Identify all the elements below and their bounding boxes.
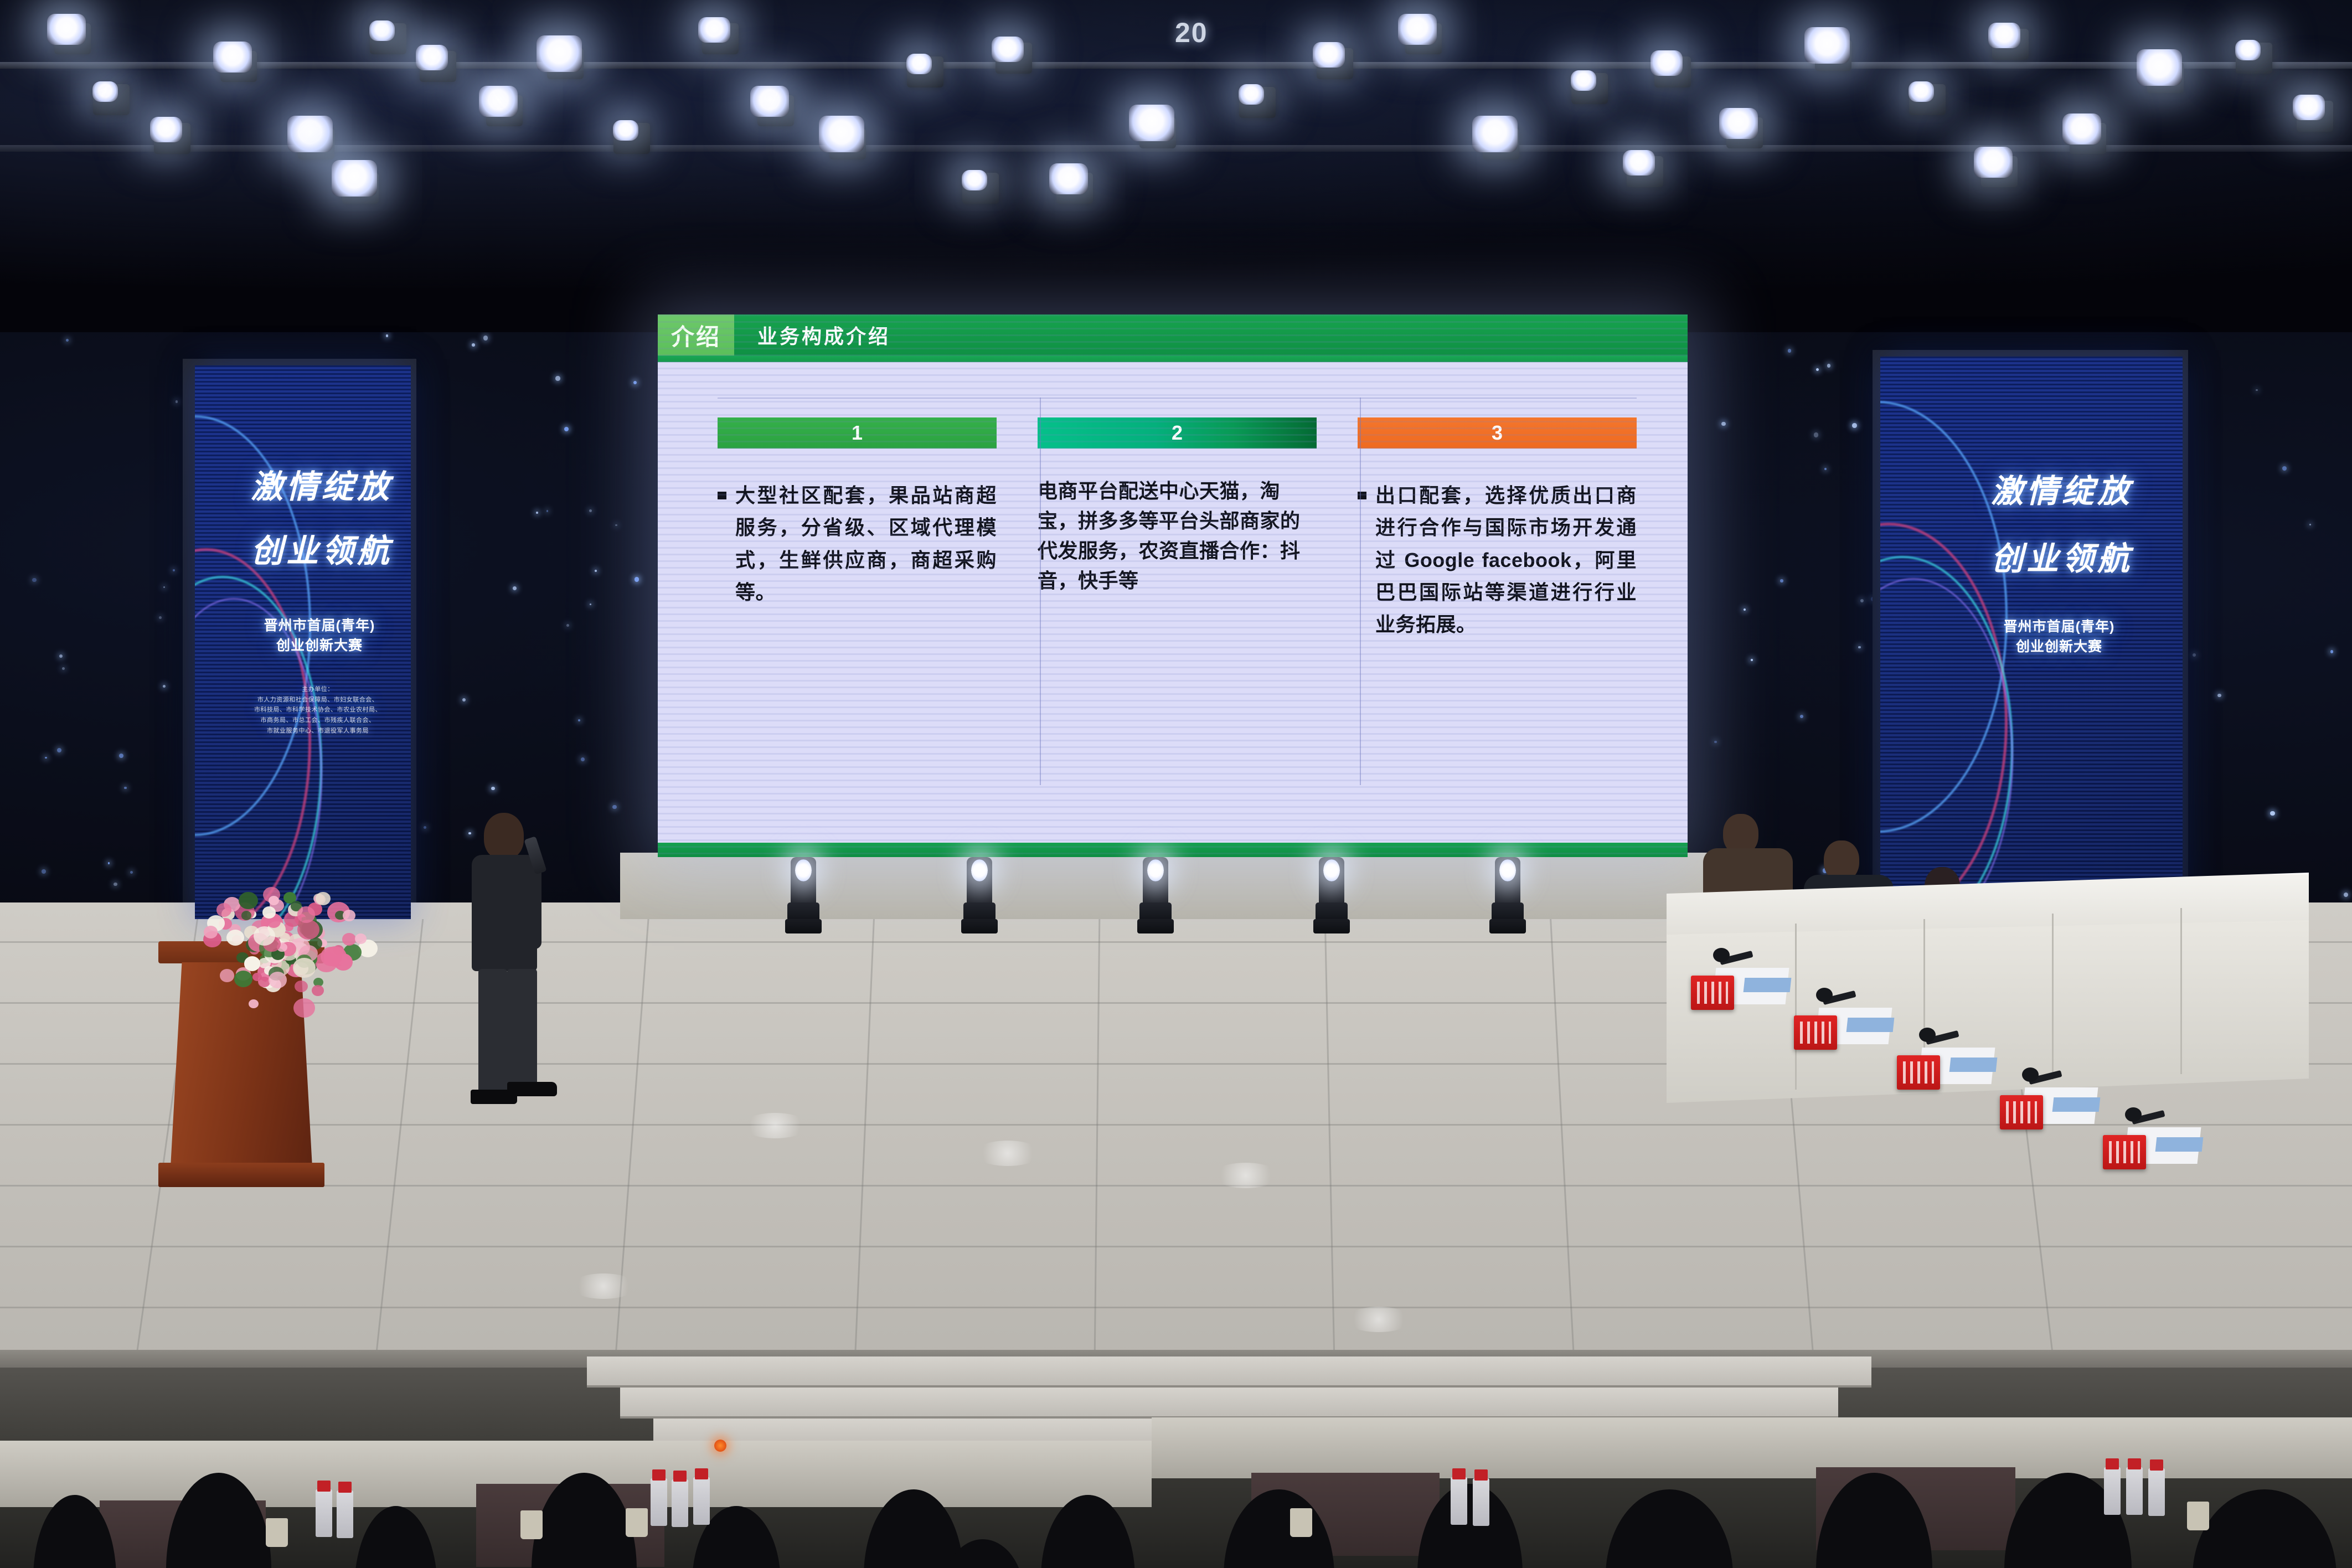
banner-left-fineprint: 主办单位： 市人力资源和社会保障局、市妇女联合会、 市科技局、市科学技术协会、市… [195, 684, 411, 736]
flower-blossom [254, 926, 275, 946]
star-point [513, 586, 517, 590]
bottle-cap [2106, 1458, 2119, 1469]
slide-hline-1 [718, 398, 1637, 399]
stage-light-beam [47, 14, 86, 45]
bottle-cap [673, 1471, 687, 1482]
desk-microphone-capsule [2022, 1067, 2039, 1082]
star-point [578, 719, 580, 721]
flower-blossom [269, 896, 279, 905]
banner-left-subtitle: 晋州市首届(青年) 创业创新大赛 [195, 616, 411, 656]
slide-column-1[interactable]: 1 大型社区配套，果品站商超服务，分省级、区域代理模式，生鲜供应商，商超采购等。 [718, 417, 997, 641]
star-point [59, 654, 63, 658]
flower-blossom [241, 911, 251, 920]
star-point [615, 524, 617, 527]
judge-nameplate [2103, 1135, 2146, 1169]
star-point [2217, 694, 2221, 698]
column-1-number: 1 [718, 417, 997, 448]
podium-base [158, 1163, 324, 1187]
moving-head-light [1489, 857, 1526, 935]
star-point [536, 512, 538, 514]
moving-head-base [961, 919, 998, 933]
judge-blue-folder [2052, 1097, 2101, 1112]
presenter [454, 813, 576, 1123]
star-point [62, 667, 65, 670]
star-point [472, 343, 474, 346]
moving-head-lens [1499, 859, 1516, 881]
slide-header-title: 业务构成介绍 [734, 314, 1688, 355]
star-point [612, 805, 616, 809]
flower-blossom [293, 958, 315, 978]
moving-head-light [961, 857, 998, 935]
bottle-cap [1452, 1468, 1466, 1479]
moving-head-light [1313, 857, 1350, 935]
star-point [386, 334, 389, 337]
stage-light-beam [537, 35, 582, 72]
floor-seam [0, 1246, 2352, 1247]
star-point [424, 826, 427, 829]
column-2-text: 电商平台配送中心天猫，淘宝，拼多多等平台头部商家的代发服务，农资直播合作：抖音，… [1038, 476, 1317, 596]
floor-light-reflection [974, 1141, 1041, 1166]
presenter-arm [522, 866, 541, 949]
star-point [1824, 468, 1827, 470]
star-point [130, 871, 133, 874]
banner-right-subtitle: 晋州市首届(青年) 创业创新大赛 [1880, 617, 2183, 657]
stage-light-beam [2062, 114, 2101, 145]
stage-light-beam [1571, 70, 1596, 91]
star-point [1852, 423, 1857, 428]
stage-light-beam [819, 116, 864, 152]
moving-head-lens [971, 859, 988, 881]
star-point [108, 862, 110, 864]
star-point [462, 698, 466, 702]
star-point [590, 604, 591, 605]
banner-right-line1: 激情绽放 [1880, 465, 2183, 512]
flower-blossom [355, 933, 366, 943]
stage-light-beam [479, 86, 518, 117]
star-point [2256, 389, 2258, 391]
star-point [1751, 659, 1753, 661]
judges-table-panel-seam-1 [1795, 924, 1797, 1090]
stage-light-beam [1623, 150, 1655, 176]
column-1-text: 大型社区配套，果品站商超服务，分省级、区域代理模式，生鲜供应商，商超采购等。 [735, 479, 997, 608]
moving-head-yoke [787, 902, 819, 921]
judge-blue-folder [1846, 1018, 1895, 1032]
stage-light-beam [698, 17, 730, 43]
star-point [32, 578, 37, 582]
flower-blossom [312, 985, 324, 996]
stage-light-beam [1909, 81, 1934, 102]
star-point [633, 381, 637, 384]
star-point [1744, 608, 1746, 611]
moving-head-lens [1323, 859, 1340, 881]
flower-blossom [295, 981, 307, 992]
star-point [1814, 432, 1818, 437]
column-3-number: 3 [1358, 417, 1637, 448]
flower-blossom [234, 971, 253, 987]
moving-head-base [785, 919, 822, 933]
star-point [1780, 579, 1783, 582]
star-point [564, 427, 569, 431]
floor-light-reflection [1213, 1163, 1279, 1188]
slide-header-tag: 介绍 [658, 314, 734, 355]
moving-head-lens [795, 859, 812, 881]
flower-blossom [297, 906, 316, 922]
floor-light-reflection [742, 1113, 808, 1138]
judge-blue-folder [1949, 1058, 1998, 1072]
stage-light-beam [416, 45, 448, 70]
star-point [581, 757, 585, 761]
flower-blossom [293, 998, 315, 1018]
star-point [483, 336, 488, 341]
judges-table-panel-seam-4 [2180, 908, 2182, 1074]
column-1-body: 大型社区配套，果品站商超服务，分省级、区域代理模式，生鲜供应商，商超采购等。 [718, 479, 997, 608]
stage-step-2 [620, 1388, 1838, 1419]
desk-microphone-capsule [1816, 988, 1833, 1002]
flower-blossom [220, 969, 234, 982]
bottle-cap [2150, 1459, 2163, 1471]
stage-step-1 [587, 1356, 1871, 1388]
star-point [2309, 524, 2311, 525]
floor-seam [0, 1185, 2352, 1187]
flower-blossom [343, 910, 356, 921]
bottle-cap [338, 1482, 352, 1493]
star-point [1714, 741, 1717, 744]
flower-blossom [269, 972, 287, 988]
stage-light-beam [2137, 49, 2182, 86]
bottle-cap [652, 1469, 666, 1481]
paper-cup [520, 1510, 543, 1539]
flower-blossom [321, 947, 342, 966]
star-point [1827, 364, 1830, 367]
star-point [595, 570, 597, 572]
slide-divider-1 [1040, 398, 1041, 785]
moving-head-base [1489, 919, 1526, 933]
slide-header-rule [658, 355, 1688, 362]
column-2-number: 2 [1038, 417, 1317, 448]
judge-nameplate [1794, 1015, 1837, 1050]
banner-left-line1: 激情绽放 [195, 461, 411, 507]
stage-light-beam [962, 170, 987, 190]
stage-light-beam [92, 81, 118, 102]
star-point [635, 577, 639, 581]
banner-left-line2: 创业领航 [195, 525, 411, 571]
star-point [555, 376, 560, 380]
star-point [57, 748, 62, 753]
exit-light-icon [714, 1440, 726, 1452]
stage-light-beam [613, 120, 638, 141]
desk-microphone-capsule [1919, 1028, 1936, 1042]
water-bottle [2104, 1467, 2121, 1515]
flower-blossom [249, 999, 259, 1008]
star-point [173, 569, 175, 571]
moving-head-lens [1147, 859, 1164, 881]
judge-blue-folder [1744, 978, 1792, 992]
slide-columns: 1 大型社区配套，果品站商超服务，分省级、区域代理模式，生鲜供应商，商超采购等。… [718, 417, 1637, 641]
star-point [45, 757, 47, 759]
star-point [2344, 893, 2348, 897]
moving-head-yoke [1139, 902, 1172, 921]
stage-light-beam [1988, 23, 2020, 48]
bullet-square-icon [718, 492, 726, 499]
bullet-square-icon [1358, 492, 1366, 499]
water-bottle [2126, 1467, 2143, 1515]
water-bottle [1451, 1477, 1467, 1525]
banner-right-line2: 创业领航 [1880, 533, 2183, 579]
moving-head-yoke [963, 902, 996, 921]
floor-light-reflection [1345, 1307, 1412, 1332]
star-point [546, 510, 548, 512]
column-3-body: 出口配套，选择优质出口商进行合作与国际市场开发通过 Google faceboo… [1358, 479, 1637, 641]
water-bottle [337, 1490, 353, 1538]
paper-cup [2187, 1502, 2209, 1530]
stage-light-beam [332, 160, 377, 197]
star-point [66, 339, 69, 342]
bottle-cap [317, 1481, 331, 1492]
moving-head-base [1313, 919, 1350, 933]
stage-light-beam [1398, 14, 1437, 45]
moving-head-yoke [1316, 902, 1348, 921]
stage-light-beam [369, 20, 395, 41]
star-point [589, 509, 592, 513]
star-point [163, 685, 166, 688]
star-point [1858, 646, 1860, 648]
star-point [2330, 650, 2334, 653]
flower-blossom [316, 892, 331, 905]
stage-light-beam [1974, 147, 2013, 178]
star-point [1721, 422, 1726, 426]
slide-column-2[interactable]: 2 电商平台配送中心天猫，淘宝，拼多多等平台头部商家的代发服务，农资直播合作：抖… [1038, 417, 1317, 641]
star-point [2282, 466, 2287, 471]
water-bottle [316, 1489, 332, 1537]
presenter-leg-left [478, 969, 507, 1094]
star-point [1860, 599, 1864, 603]
flower-blossom [216, 903, 231, 917]
stage-light-beam [287, 116, 333, 152]
star-point [119, 754, 123, 758]
star-point [2270, 811, 2275, 816]
stage-light-beam [1650, 50, 1683, 76]
paper-cup [626, 1508, 648, 1537]
judges-table-panel-seam-3 [2052, 914, 2054, 1080]
flower-arrangement [183, 870, 371, 1036]
stage-light-beam [213, 42, 252, 73]
stage-light-beam [992, 37, 1024, 62]
flower-blossom [252, 973, 262, 981]
stage-light-beam [1804, 27, 1850, 64]
star-point [176, 400, 178, 403]
stage-light-beam [1239, 84, 1264, 105]
star-point [566, 624, 569, 627]
star-point [114, 883, 117, 886]
star-point [1816, 368, 1819, 371]
column-3-text: 出口配套，选择优质出口商进行合作与国际市场开发通过 Google faceboo… [1375, 479, 1637, 641]
bottle-cap [1474, 1469, 1488, 1481]
moving-head-light [1137, 857, 1174, 935]
stage-light-beam [906, 54, 932, 74]
star-point [124, 787, 127, 790]
stage-light-beam [1049, 163, 1088, 194]
stage-light-beam [1719, 108, 1758, 139]
flower-blossom [239, 892, 258, 909]
judge-nameplate [2000, 1095, 2043, 1129]
desk-microphone-capsule [1713, 948, 1730, 962]
water-bottle [651, 1478, 667, 1526]
moving-head-base [1137, 919, 1174, 933]
bottle-cap [2128, 1458, 2141, 1469]
stage-scene: 20 激情绽放 创业领航 晋州市首届(青年) 创业创新大赛 主办单位： 市人力资… [0, 0, 2352, 1568]
truss-bar-top [0, 62, 2352, 69]
truss-number-marker: 20 [1175, 17, 1208, 49]
star-point [2193, 653, 2196, 657]
water-bottle [1473, 1478, 1489, 1526]
floor-seam [0, 1307, 2352, 1308]
pit-ledge-right [1152, 1417, 2352, 1478]
water-bottle [2148, 1468, 2165, 1516]
bottle-cap [695, 1468, 708, 1479]
flower-blossom [342, 933, 356, 945]
stage-light-beam [2293, 95, 2325, 120]
banner-right: 激情绽放 创业领航 晋州市首届(青年) 创业创新大赛 [1880, 357, 2183, 899]
slide-column-3[interactable]: 3 出口配套，选择优质出口商进行合作与国际市场开发通过 Google faceb… [1358, 417, 1637, 641]
slide-header: 介绍 业务构成介绍 [658, 314, 1688, 355]
flower-blossom [204, 926, 218, 938]
judge-nameplate [1897, 1055, 1940, 1090]
banner-left: 激情绽放 创业领航 晋州市首届(青年) 创业创新大赛 主办单位： 市人力资源和社… [195, 365, 411, 919]
star-point [163, 586, 165, 588]
water-bottle [693, 1477, 710, 1525]
stage-light-beam [750, 86, 789, 117]
flower-blossom [244, 956, 260, 971]
paper-cup [266, 1518, 288, 1547]
judge-blue-folder [2155, 1137, 2204, 1152]
slide-divider-2 [1360, 398, 1361, 785]
presenter-leg-right [507, 969, 537, 1094]
star-point [491, 787, 494, 790]
stage-light-beam [1313, 42, 1345, 68]
desk-microphone-capsule [2125, 1107, 2142, 1122]
star-point [42, 869, 46, 874]
star-point [1800, 715, 1803, 718]
flower-blossom [262, 906, 276, 918]
slide-footer-bar [658, 843, 1688, 857]
stage-light-beam [1472, 116, 1518, 152]
presentation-slide[interactable]: 介绍 业务构成介绍 1 大型社区配套，果品站商超服务，分省级、区域代理模式，生鲜… [658, 314, 1688, 857]
flower-blossom [226, 930, 244, 946]
stage-light-beam [2235, 40, 2261, 60]
moving-head-yoke [1492, 902, 1524, 921]
water-bottle [672, 1479, 688, 1527]
stage-light-beam [150, 117, 182, 142]
judge-nameplate [1691, 976, 1734, 1010]
star-point [1788, 349, 1792, 353]
stage-light-beam [1129, 105, 1174, 141]
presenter-head [484, 813, 524, 859]
moving-head-light [785, 857, 822, 935]
flower-blossom [280, 933, 290, 942]
paper-cup [1290, 1508, 1312, 1537]
star-point [159, 616, 162, 619]
presenter-shoe-right [507, 1082, 557, 1096]
floor-light-reflection [570, 1273, 637, 1299]
